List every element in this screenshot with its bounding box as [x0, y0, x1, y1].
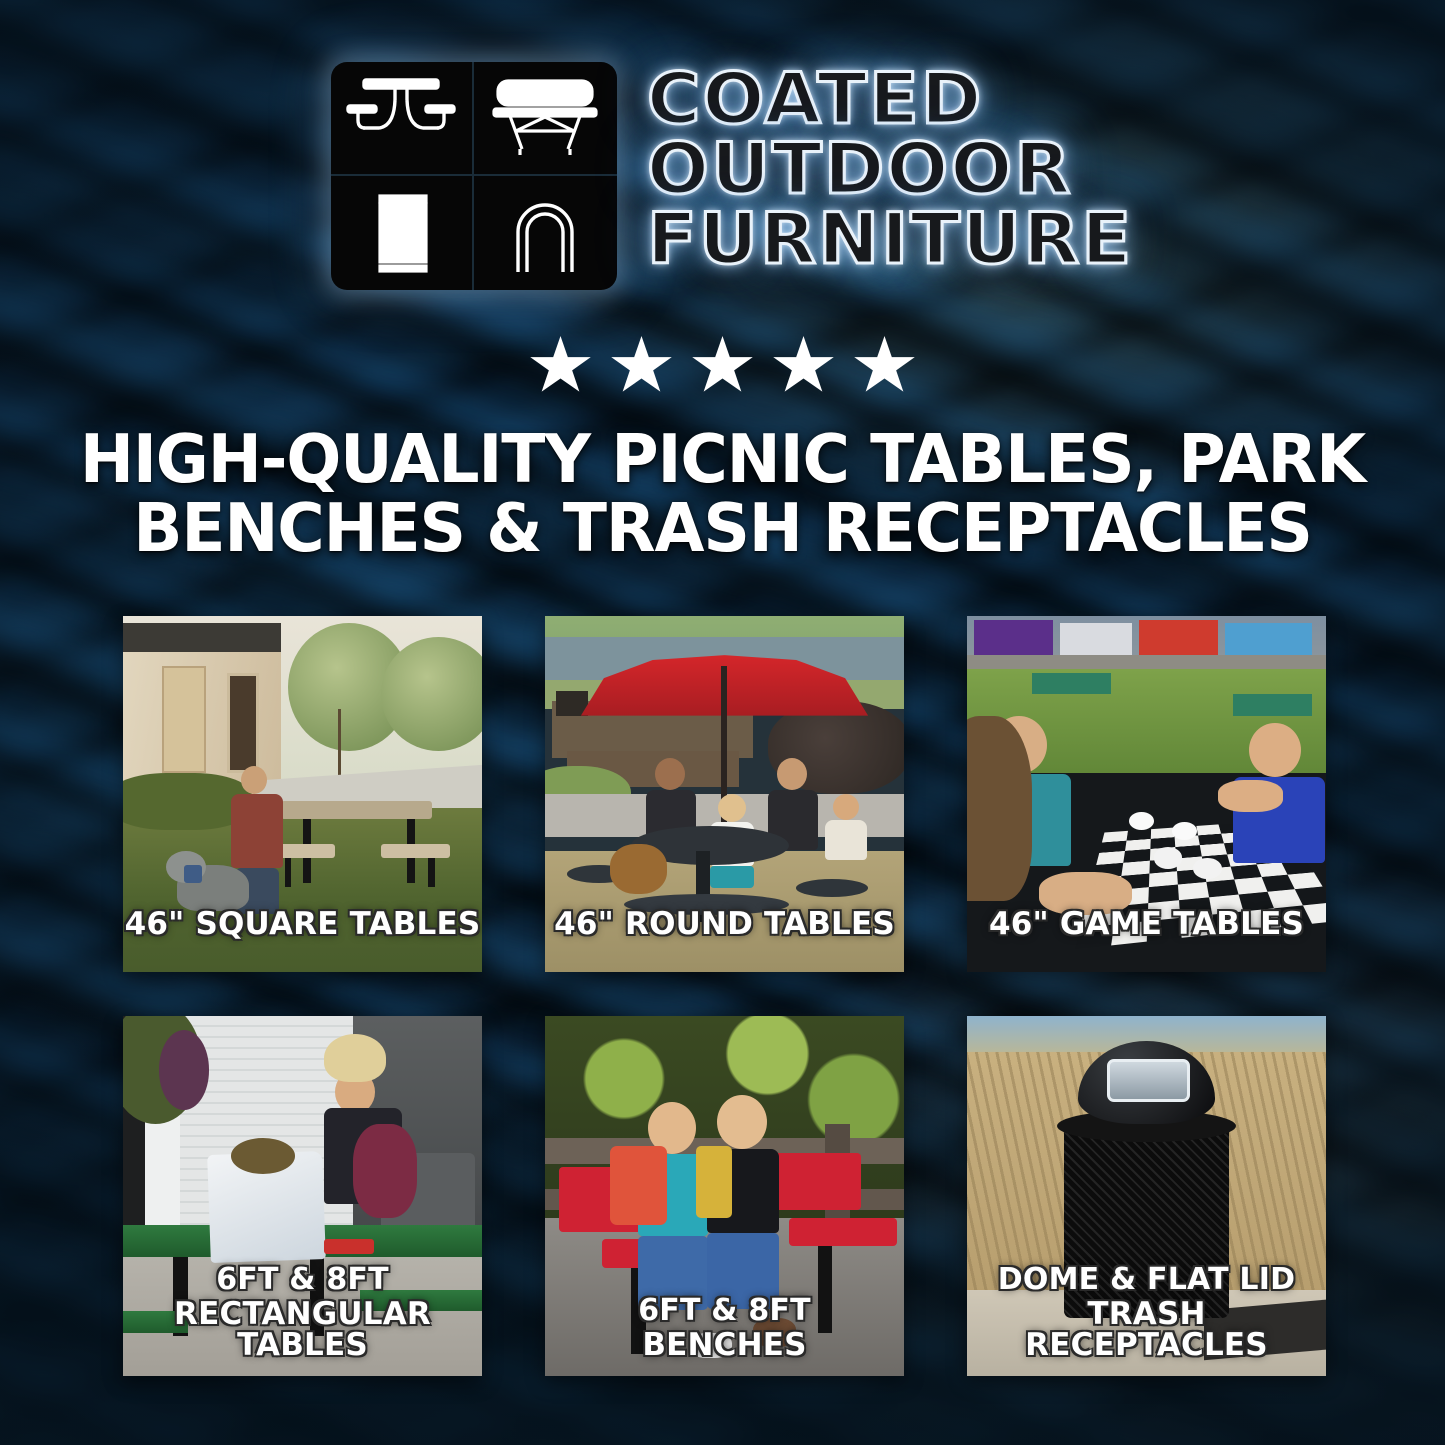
- photo-bench-seat-right: [789, 1218, 897, 1247]
- product-card-game-tables[interactable]: 46" GAME TABLES: [967, 616, 1326, 972]
- product-caption-trash-receptacles: DOME & FLAT LID TRASH RECEPTACLES: [967, 1265, 1326, 1361]
- product-photo-rectangular-tables: 6FT & 8FT RECTANGULAR TABLES: [123, 1016, 482, 1376]
- brand-name-line-1: COATED: [647, 66, 1133, 134]
- product-card-square-tables[interactable]: 46" SQUARE TABLES: [123, 616, 482, 972]
- photo-bench-right: [381, 844, 449, 858]
- photo-checker-piece-2: [1172, 822, 1197, 840]
- picnic-table-front-icon: [331, 62, 474, 176]
- product-card-rectangular-tables[interactable]: 6FT & 8FT RECTANGULAR TABLES: [123, 1016, 482, 1376]
- trash-receptacle-icon: [331, 176, 474, 290]
- photo-bench-leg-1: [285, 858, 291, 886]
- star-icon-5: [854, 336, 916, 396]
- star-icon-2: [611, 336, 673, 396]
- photo-player-hair: [967, 716, 1032, 901]
- photo-dog-harness: [184, 865, 202, 883]
- photo-checker-piece-1: [1129, 812, 1154, 830]
- photo-hand-2: [1218, 780, 1283, 812]
- photo-garden-tool: [324, 1239, 374, 1253]
- product-photo-trash-receptacles: DOME & FLAT LID TRASH RECEPTACLES: [967, 1016, 1326, 1376]
- headline: HIGH-QUALITY PICNIC TABLES, PARK BENCHES…: [25, 425, 1419, 563]
- product-card-benches[interactable]: 6FT & 8FT BENCHES: [545, 1016, 904, 1376]
- caption-line-1: DOME & FLAT LID: [967, 1265, 1326, 1295]
- brand-name-line-3: FURNITURE: [647, 206, 1133, 274]
- product-caption-game-tables: 46" GAME TABLES: [967, 909, 1326, 940]
- promo-graphic: COATED OUTDOOR FURNITURE HIGH-QUALITY PI…: [0, 0, 1445, 1445]
- photo-tent-red: [1139, 620, 1218, 656]
- product-grid: 46" SQUARE TABLES: [123, 616, 1325, 1376]
- photo-child-2: [825, 794, 867, 860]
- product-photo-game-tables: 46" GAME TABLES: [967, 616, 1326, 972]
- photo-window: [227, 673, 259, 773]
- photo-garage-door: [162, 666, 205, 773]
- product-photo-benches: 6FT & 8FT BENCHES: [545, 1016, 904, 1376]
- photo-bench-leg-2: [428, 858, 434, 886]
- logo-icon-grid: [331, 62, 617, 290]
- star-icon-3: [692, 336, 754, 396]
- photo-bg-table-2: [1233, 694, 1312, 715]
- caption-line-1: 6FT & 8FT: [545, 1296, 904, 1326]
- photo-dog: [610, 844, 667, 894]
- caption-line-2: TRASH RECEPTACLES: [967, 1299, 1326, 1361]
- photo-checker-piece-3: [1154, 847, 1183, 868]
- photo-tent-white: [1060, 623, 1132, 655]
- photo-backpack: [610, 1146, 667, 1225]
- photo-bg-table-1: [1032, 673, 1111, 694]
- caption-line-2: RECTANGULAR TABLES: [123, 1299, 482, 1361]
- brand-name-line-2: OUTDOOR: [647, 136, 1133, 204]
- photo-dome-opening: [1107, 1059, 1190, 1102]
- photo-flowers: [353, 1124, 418, 1218]
- product-caption-benches: 6FT & 8FT BENCHES: [545, 1296, 904, 1361]
- bike-rack-arch-icon: [474, 176, 617, 290]
- brand-logo: COATED OUTDOOR FURNITURE: [0, 62, 1445, 290]
- star-icon-4: [773, 336, 835, 396]
- photo-tent-blue: [1225, 623, 1311, 659]
- brand-wordmark: COATED OUTDOOR FURNITURE: [647, 62, 1115, 274]
- caption-line-1: 6FT & 8FT: [123, 1265, 482, 1295]
- picnic-table-side-icon: [474, 62, 617, 176]
- headline-line-2: BENCHES & TRASH RECEPTACLES: [25, 494, 1419, 563]
- photo-ivy-2: [159, 1030, 209, 1109]
- product-caption-square-tables: 46" SQUARE TABLES: [123, 909, 482, 940]
- photo-roof: [123, 623, 281, 651]
- photo-table-top: [281, 801, 432, 819]
- headline-line-1: HIGH-QUALITY PICNIC TABLES, PARK: [25, 425, 1419, 494]
- star-icon-1: [530, 336, 592, 396]
- product-caption-rectangular-tables: 6FT & 8FT RECTANGULAR TABLES: [123, 1265, 482, 1361]
- product-card-trash-receptacles[interactable]: DOME & FLAT LID TRASH RECEPTACLES: [967, 1016, 1326, 1376]
- photo-tent-purple: [974, 620, 1053, 659]
- caption-line-2: BENCHES: [545, 1330, 904, 1361]
- product-card-round-tables[interactable]: 46" ROUND TABLES: [545, 616, 904, 972]
- star-rating: [0, 336, 1445, 396]
- product-photo-square-tables: 46" SQUARE TABLES: [123, 616, 482, 972]
- photo-backpack-strap: [696, 1146, 732, 1218]
- product-caption-round-tables: 46" ROUND TABLES: [545, 909, 904, 940]
- product-photo-round-tables: 46" ROUND TABLES: [545, 616, 904, 972]
